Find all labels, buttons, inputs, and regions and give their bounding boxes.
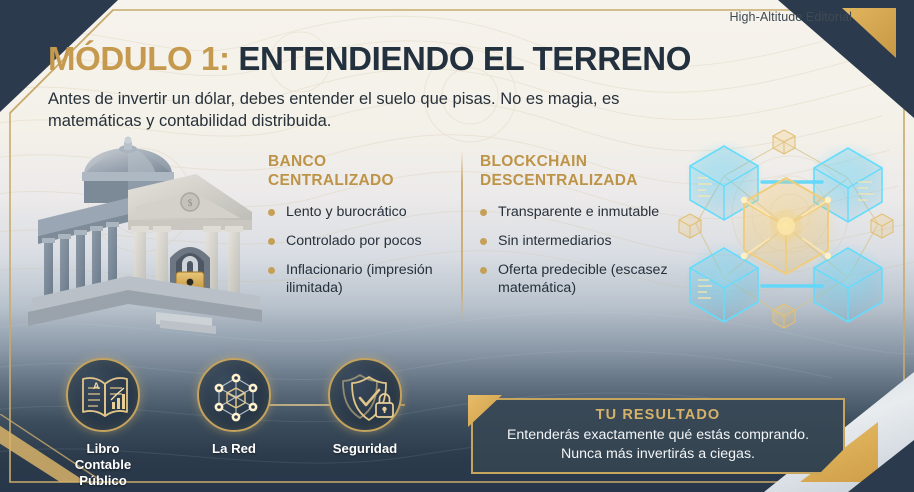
list-item: Sin intermediarios (480, 233, 680, 251)
result-panel: TU RESULTADO Entenderás exactamente qué … (471, 398, 845, 474)
result-heading: TU RESULTADO (473, 407, 843, 423)
page-title-main: ENTENDIENDO EL TERRENO (238, 40, 691, 77)
list-item: Lento y burocrático (268, 204, 448, 222)
shield-check-lock-icon (330, 360, 404, 434)
infographic-canvas: High-Altitude Editorial MÓDULO 1: ENTEND… (0, 0, 914, 492)
bullet-list-bank: Lento y burocrático Controlado por pocos… (268, 204, 448, 297)
list-item: Oferta predecible (escasez matemática) (480, 262, 680, 298)
result-line-2: Nunca más invertirás a ciegas. (473, 445, 843, 464)
svg-text:A: A (93, 381, 100, 391)
badge-disc (197, 358, 271, 432)
badge-label: La Red (194, 441, 274, 457)
column-decentralized-blockchain: BLOCKCHAIN DESCENTRALIZADA Transparente … (480, 152, 680, 308)
page-title: MÓDULO 1: ENTENDIENDO EL TERRENO (48, 40, 691, 78)
badge-la-red[interactable]: La Red (194, 358, 274, 457)
badge-label: Libro Contable Público (63, 441, 143, 489)
badge-seguridad[interactable]: Seguridad (325, 358, 405, 457)
network-nodes-icon (199, 360, 273, 434)
page-subtitle: Antes de invertir un dólar, debes entend… (48, 88, 658, 133)
bank-building-with-padlock-icon: $ (24, 136, 264, 341)
badge-row: A Libro Contable Público (60, 358, 440, 488)
blockchain-cube-network-icon (666, 104, 906, 354)
editorial-label: High-Altitude Editorial (730, 10, 853, 24)
list-item: Inflacionario (impresión ilimitada) (268, 262, 448, 298)
column-heading-blockchain: BLOCKCHAIN DESCENTRALIZADA (480, 152, 680, 190)
badge-libro-contable[interactable]: A Libro Contable Público (63, 358, 143, 489)
column-divider (461, 150, 463, 322)
badge-label: Seguridad (325, 441, 405, 457)
column-centralized-bank: BANCO CENTRALIZADO Lento y burocrático C… (268, 152, 448, 308)
list-item: Transparente e inmutable (480, 204, 680, 222)
result-line-1: Entenderás exactamente qué estás compran… (473, 426, 843, 445)
open-book-icon: A (68, 360, 142, 434)
page-title-module: MÓDULO 1: (48, 40, 230, 77)
badge-disc: A (66, 358, 140, 432)
column-heading-bank: BANCO CENTRALIZADO (268, 152, 448, 190)
list-item: Controlado por pocos (268, 233, 448, 251)
badge-disc (328, 358, 402, 432)
svg-text:$: $ (188, 198, 193, 208)
bullet-list-blockchain: Transparente e inmutable Sin intermediar… (480, 204, 680, 297)
